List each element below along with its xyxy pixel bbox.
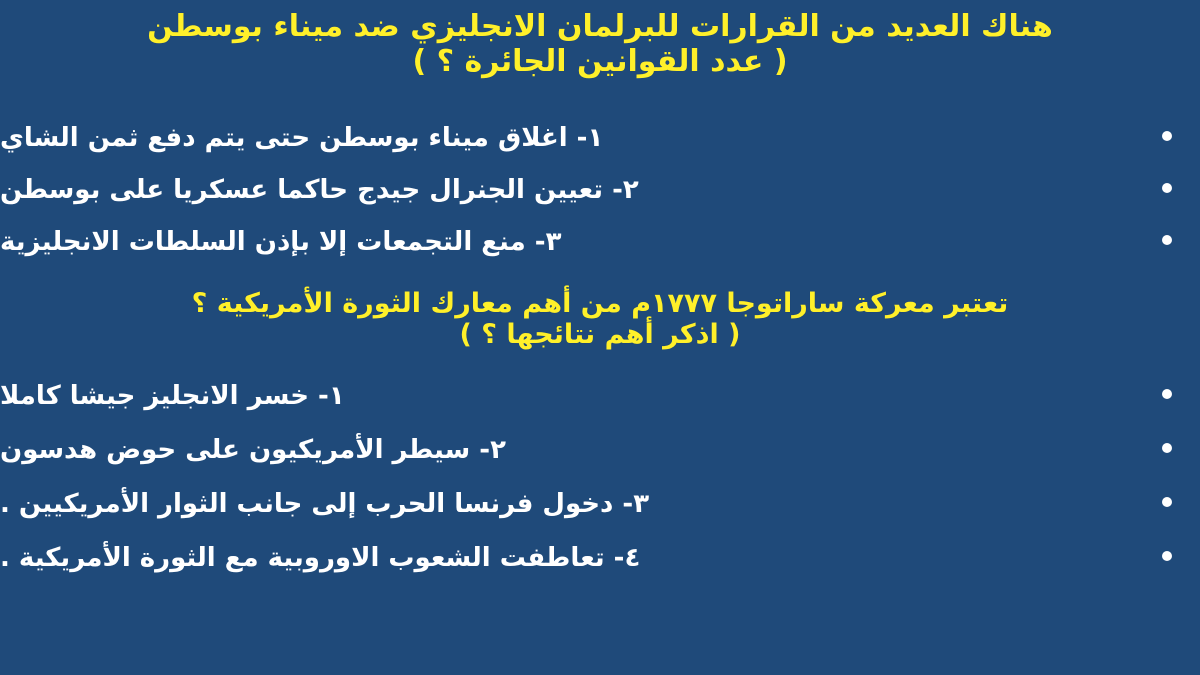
list-item-label: ٣- دخول فرنسا الحرب إلى جانب الثوار الأم… [0,490,1140,518]
bullet-list-saratoga-results: ١- خسر الانجليز جيشا كاملا ٢- سيطر الأمر… [0,382,1200,598]
heading-one-line-a: هناك العديد من القرارات للبرلمان الانجلي… [0,10,1200,45]
list-item: ١- اغلاق ميناء بوسطن حتى يتم دفع ثمن الش… [0,124,1200,176]
list-item-label: ٤- تعاطفت الشعوب الاوروبية مع الثورة الأ… [0,544,1140,572]
list-item: ١- خسر الانجليز جيشا كاملا [0,382,1200,436]
heading-two-line-b: ( اذكر أهم نتائجها ؟ ) [0,319,1200,350]
bullet-dot-icon [1162,131,1172,141]
list-item: ٣- دخول فرنسا الحرب إلى جانب الثوار الأم… [0,490,1200,544]
list-item: ٢- تعيين الجنرال جيدج حاكما عسكريا على ب… [0,176,1200,228]
heading-saratoga-battle: تعتبر معركة ساراتوجا ١٧٧٧م من أهم معارك … [0,288,1200,351]
bullet-dot-icon [1162,443,1172,453]
list-item-label: ٢- تعيين الجنرال جيدج حاكما عسكريا على ب… [0,176,1140,204]
heading-two-line-a: تعتبر معركة ساراتوجا ١٧٧٧م من أهم معارك … [0,288,1200,319]
heading-boston-port-acts: هناك العديد من القرارات للبرلمان الانجلي… [0,10,1200,80]
list-item-label: ٣- منع التجمعات إلا بإذن السلطات الانجلي… [0,228,1140,256]
bullet-list-intolerable-acts: ١- اغلاق ميناء بوسطن حتى يتم دفع ثمن الش… [0,124,1200,280]
bullet-dot-icon [1162,389,1172,399]
list-item: ٣- منع التجمعات إلا بإذن السلطات الانجلي… [0,228,1200,280]
heading-one-line-b: ( عدد القوانين الجائرة ؟ ) [0,45,1200,80]
bullet-dot-icon [1162,235,1172,245]
bullet-dot-icon [1162,183,1172,193]
bullet-dot-icon [1162,497,1172,507]
list-item: ٤- تعاطفت الشعوب الاوروبية مع الثورة الأ… [0,544,1200,598]
bullet-dot-icon [1162,551,1172,561]
list-item-label: ٢- سيطر الأمريكيون على حوض هدسون [0,436,1140,464]
presentation-slide: هناك العديد من القرارات للبرلمان الانجلي… [0,0,1200,675]
list-item: ٢- سيطر الأمريكيون على حوض هدسون [0,436,1200,490]
list-item-label: ١- خسر الانجليز جيشا كاملا [0,382,1140,410]
list-item-label: ١- اغلاق ميناء بوسطن حتى يتم دفع ثمن الش… [0,124,1140,152]
